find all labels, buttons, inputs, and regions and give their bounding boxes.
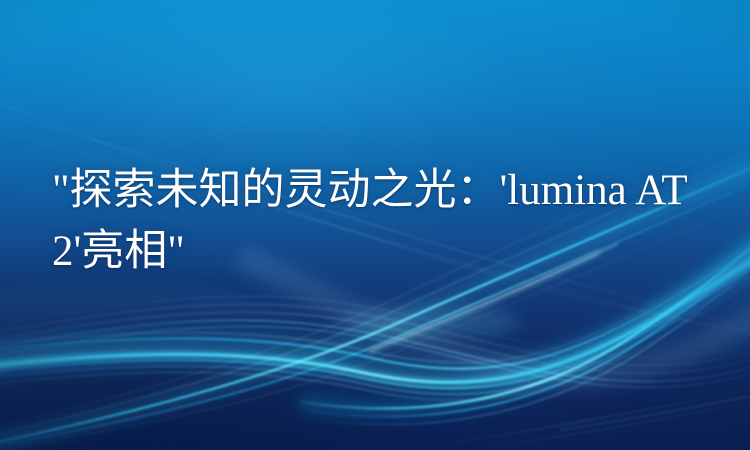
promo-banner: "探索未知的灵动之光：'lumina AT2'亮相" — [0, 0, 750, 450]
banner-headline: "探索未知的灵动之光：'lumina AT2'亮相" — [52, 160, 712, 282]
